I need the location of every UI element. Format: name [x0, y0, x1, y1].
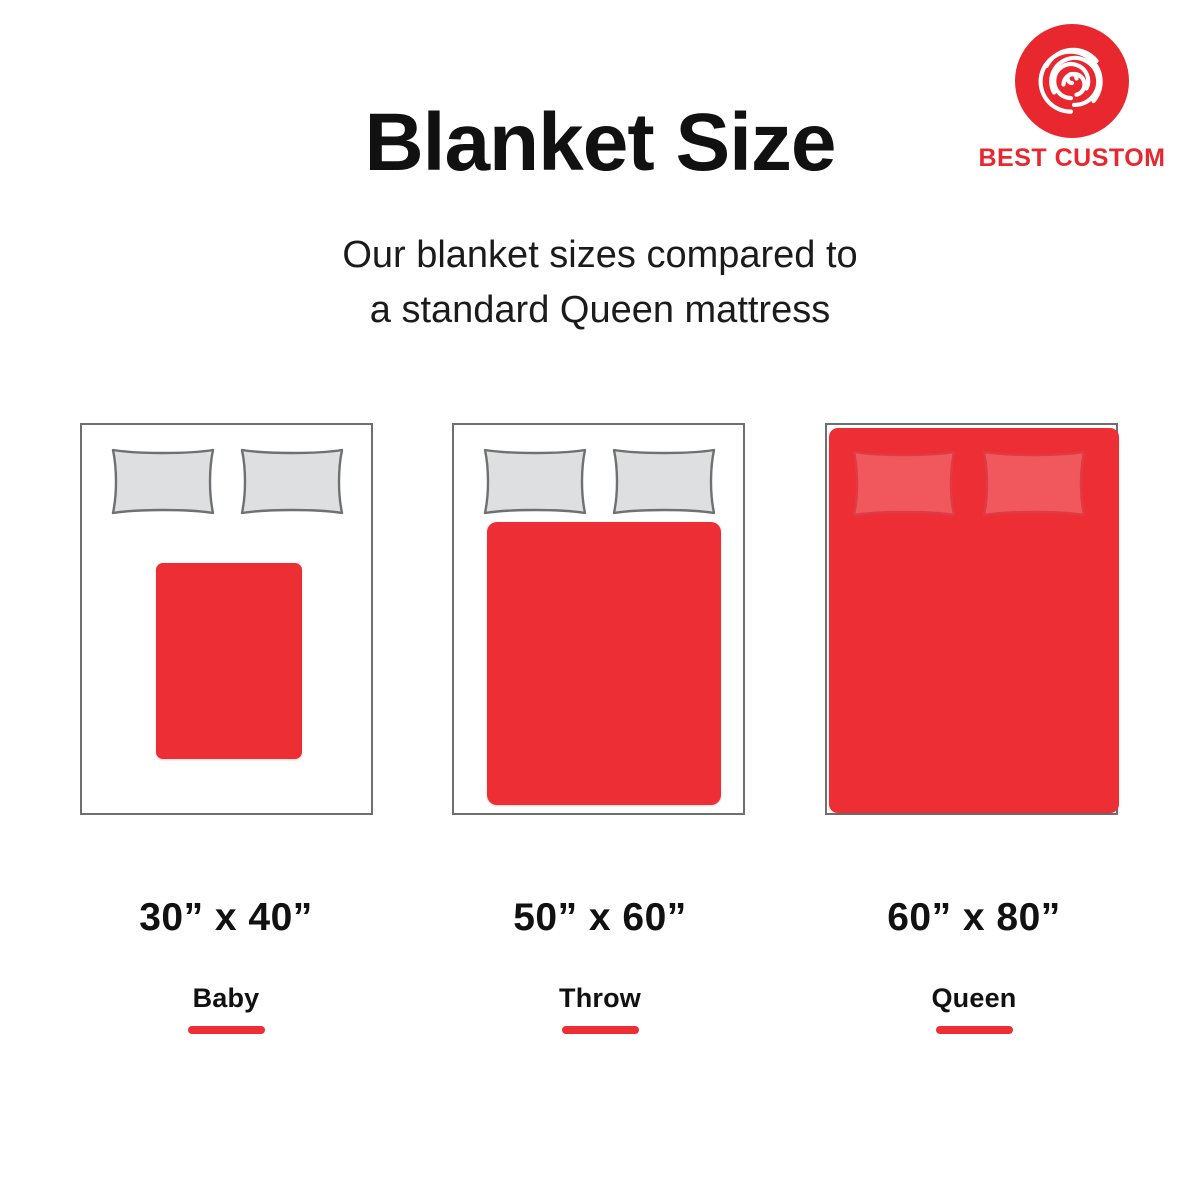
bed-diagram-queen: [825, 423, 1118, 815]
size-dimension: 60” x 80”: [794, 898, 1154, 937]
blanket-shape-baby: [156, 563, 302, 759]
page-subtitle: Our blanket sizes compared to a standard…: [0, 228, 1200, 338]
mattress-outline: [80, 423, 373, 815]
page-subtitle-line-2: a standard Queen mattress: [0, 283, 1200, 338]
size-name: Baby: [46, 985, 406, 1012]
bed-diagram-baby: [80, 423, 373, 815]
pillow-icon-right: [609, 445, 719, 518]
pillow-icon-left: [849, 447, 959, 520]
blanket-shape-throw: [487, 522, 721, 805]
size-dimension: 30” x 40”: [46, 898, 406, 937]
page-subtitle-line-1: Our blanket sizes compared to: [0, 228, 1200, 283]
pillow-icon-left: [480, 445, 590, 518]
size-label-queen: 60” x 80” Queen: [794, 898, 1154, 1034]
mattress-outline: [452, 423, 745, 815]
size-dimension: 50” x 60”: [420, 898, 780, 937]
size-label-throw: 50” x 60” Throw: [420, 898, 780, 1034]
size-name: Throw: [420, 985, 780, 1012]
size-name: Queen: [794, 985, 1154, 1012]
pillow-icon-right: [979, 447, 1089, 520]
size-label-baby: 30” x 40” Baby: [46, 898, 406, 1034]
mattress-outline: [825, 423, 1118, 815]
pillow-icon-left: [108, 445, 218, 518]
pillow-icon-right: [237, 445, 347, 518]
page-title: Blanket Size: [0, 102, 1200, 184]
size-underline-bar: [936, 1026, 1013, 1034]
bed-diagram-throw: [452, 423, 745, 815]
size-underline-bar: [562, 1026, 639, 1034]
size-underline-bar: [188, 1026, 265, 1034]
